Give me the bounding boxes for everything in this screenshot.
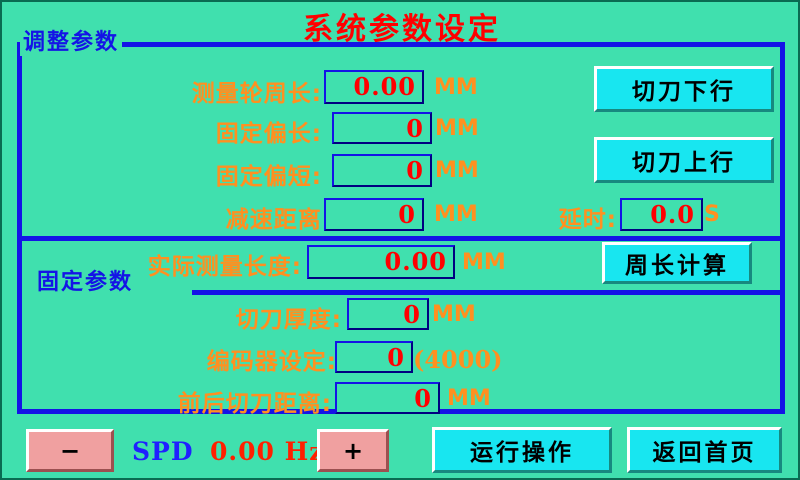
field-value-fixed-short-offset[interactable]: 0 (332, 154, 432, 187)
field-unit-fixed-short-offset: MM (435, 158, 479, 183)
field-label-wheel-perimeter: 测量轮周长: (92, 74, 322, 108)
group-separator-adjust (177, 42, 785, 47)
field-label-encoder-setting: 编码器设定: (112, 342, 337, 376)
field-unit-encoder-setting: (4000) (413, 345, 503, 374)
field-label-knife-gap-distance: 前后切刀距离: (92, 384, 332, 418)
field-value-actual-measured-length[interactable]: 0.00 (307, 245, 455, 279)
field-unit-delay: S (704, 202, 720, 227)
field-value-fixed-long-offset[interactable]: 0 (332, 112, 432, 144)
run-operation-button[interactable]: 运行操作 (432, 427, 612, 473)
group-label-fixed-parameters: 固定参数 (34, 264, 136, 296)
field-value-wheel-perimeter[interactable]: 0.00 (324, 70, 424, 104)
field-unit-knife-thickness: MM (432, 302, 476, 327)
field-unit-fixed-long-offset: MM (435, 116, 479, 141)
group-separator-fixed (192, 290, 785, 295)
field-value-knife-gap-distance[interactable]: 0 (335, 382, 440, 414)
field-value-encoder-setting[interactable]: 0 (335, 341, 413, 373)
speed-increase-button[interactable]: + (317, 429, 389, 472)
knife-down-button[interactable]: 切刀下行 (594, 66, 774, 112)
perimeter-calc-button[interactable]: 周长计算 (602, 242, 752, 284)
hmi-screen: 系统参数设定 调整参数 测量轮周长: 0.00 MM 固定偏长: 0 MM 固定… (0, 0, 800, 480)
speed-label: SPD (132, 437, 194, 466)
field-label-knife-thickness: 切刀厚度: (142, 300, 342, 334)
field-unit-knife-gap-distance: MM (447, 386, 491, 411)
knife-up-button[interactable]: 切刀上行 (594, 137, 774, 183)
field-label-fixed-short-offset: 固定偏短: (122, 157, 322, 191)
speed-decrease-button[interactable]: − (26, 429, 114, 472)
field-value-delay[interactable]: 0.0 (620, 198, 703, 231)
group-label-adjust-parameters: 调整参数 (20, 24, 122, 56)
field-unit-actual-measured-length: MM (462, 250, 506, 275)
field-value-knife-thickness[interactable]: 0 (347, 298, 429, 330)
field-value-decel-distance[interactable]: 0 (324, 198, 424, 231)
field-unit-wheel-perimeter: MM (434, 75, 478, 100)
return-home-button[interactable]: 返回首页 (627, 427, 782, 473)
speed-value: 0.00 Hz (210, 437, 324, 466)
field-label-decel-distance: 减速距离: (132, 200, 332, 234)
field-label-delay: 延时: (517, 200, 617, 234)
field-unit-decel-distance: MM (434, 202, 478, 227)
field-label-fixed-long-offset: 固定偏长: (122, 114, 322, 148)
